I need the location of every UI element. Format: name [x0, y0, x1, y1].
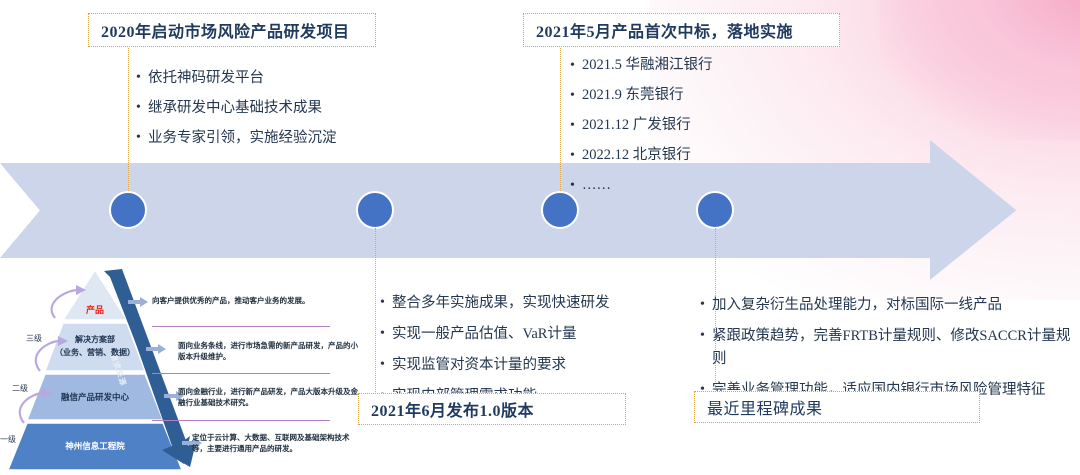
connector-line-node1 [128, 40, 129, 191]
bullet-text: 紧跟政策趋势，完善FRTB计量规则、修改SACCR计量规则 [712, 325, 1072, 371]
pyramid-desc-4: 定位于云计算、大数据、互联网及基础架构技术等，主要进行通用产品的研发。 [192, 432, 362, 454]
bullet-text: 实现一般产品估值、VaR计量 [392, 323, 670, 346]
bullet-text: 依托神码研发平台 [148, 67, 386, 89]
milestone-title-2021-05-text: 2021年5月产品首次中标，落地实施 [536, 18, 793, 42]
milestone-bullets-2020: • 依托神码研发平台 • 继承研发中心基础技术成果 • 业务专家引领，实施经验沉… [136, 67, 386, 157]
bullet-dot: • [380, 354, 392, 376]
connector-line-node3-top [560, 40, 561, 191]
bullet-text: 2021.5 华融湘江银行 [582, 55, 870, 76]
list-item: • 2022.12 北京银行 [570, 145, 870, 167]
bullet-text: 继承研发中心基础技术成果 [148, 97, 386, 119]
pyramid-tier-solution-line2: （业务、营销、数据） [40, 347, 150, 359]
bullet-dot: • [570, 145, 582, 167]
milestone-title-2021-06[interactable]: 2021年6月发布1.0版本 [358, 393, 626, 425]
list-item: • 继承研发中心基础技术成果 [136, 97, 386, 119]
pyramid-desc-1: 向客户提供优秀的产品，推动客户业务的发展。 [152, 295, 337, 306]
bullet-dot: • [380, 323, 392, 345]
pyramid-level-tag-2: 二级 [12, 383, 28, 394]
pyramid-divider-3 [152, 420, 330, 421]
timeline-node-2[interactable] [356, 191, 394, 229]
pyramid-tier-rd-center: 融信产品研发中心 [35, 391, 155, 403]
list-item: • 实现一般产品估值、VaR计量 [380, 323, 670, 346]
bullet-text: 业务专家引领，实施经验沉淀 [148, 127, 386, 149]
bullet-text: 2022.12 北京银行 [582, 145, 870, 166]
milestone-title-2021-06-text: 2021年6月发布1.0版本 [371, 397, 534, 421]
bullet-text: 2021.9 东莞银行 [582, 85, 870, 106]
list-item: • 紧跟政策趋势，完善FRTB计量规则、修改SACCR计量规则 [700, 325, 1072, 371]
list-item: • 业务专家引领，实施经验沉淀 [136, 127, 386, 149]
list-item: • 2021.9 东莞银行 [570, 85, 870, 107]
list-item: • …… [570, 175, 870, 197]
list-item: • 2021.5 华融湘江银行 [570, 55, 870, 77]
bullet-text: 加入复杂衍生品处理能力，对标国际一线产品 [712, 294, 1072, 317]
pyramid-desc-3: 面向金融行业，进行新产品研发，产品大版本升级及金融行业基础技术研究。 [178, 386, 363, 408]
bullet-text: 2021.12 广发银行 [582, 115, 870, 136]
bullet-text: 整合多年实施成果，实现快速研发 [392, 292, 670, 315]
milestone-title-recent[interactable]: 最近里程碑成果 [694, 391, 980, 423]
pyramid-tier-solution-line1: 解决方案部 [45, 334, 145, 346]
bullet-dot: • [700, 325, 712, 347]
list-item: • 整合多年实施成果，实现快速研发 [380, 292, 670, 315]
milestone-title-2021-05[interactable]: 2021年5月产品首次中标，落地实施 [523, 13, 840, 47]
pyramid-level-tag-3: 三级 [26, 333, 42, 344]
list-item: • 依托神码研发平台 [136, 67, 386, 89]
background-gradient-pink-accent [880, 0, 1080, 140]
bullet-dot: • [136, 97, 148, 119]
milestone-title-2020[interactable]: 2020年启动市场风险产品研发项目 [88, 13, 376, 47]
pyramid-diagram: 需求来源 三级 二级 一级 产品 解决方案部 （业务、营销、数据） 融信产品研发… [0, 268, 350, 475]
pyramid-divider-1 [152, 326, 330, 327]
milestone-title-2020-text: 2020年启动市场风险产品研发项目 [101, 18, 350, 42]
pyramid-divider-2 [152, 373, 330, 374]
bullet-dot: • [700, 294, 712, 316]
bullet-text: …… [582, 175, 870, 196]
list-item: • 实现监管对资本计量的要求 [380, 354, 670, 377]
milestone-bullets-2021-05: • 2021.5 华融湘江银行 • 2021.9 东莞银行 • 2021.12 … [570, 55, 870, 205]
bullet-dot: • [570, 115, 582, 137]
bullet-dot: • [136, 67, 148, 89]
milestone-title-recent-text: 最近里程碑成果 [707, 395, 823, 419]
bullet-dot: • [570, 175, 582, 197]
bullet-text: 实现监管对资本计量的要求 [392, 354, 670, 377]
bullet-dot: • [380, 292, 392, 314]
pyramid-tier-engineering-institute: 神州信息工程院 [25, 440, 165, 452]
timeline-node-1[interactable] [109, 191, 147, 229]
bullet-dot: • [570, 55, 582, 77]
connector-line-node2-bottom [375, 228, 376, 398]
pyramid-level-tag-1: 一级 [0, 434, 16, 445]
bullet-dot: • [136, 127, 148, 149]
list-item: • 2021.12 广发银行 [570, 115, 870, 137]
bullet-dot: • [570, 85, 582, 107]
slide-canvas: 2020年启动市场风险产品研发项目 • 依托神码研发平台 • 继承研发中心基础技… [0, 0, 1080, 475]
list-item: • 加入复杂衍生品处理能力，对标国际一线产品 [700, 294, 1072, 317]
pyramid-tier-product: 产品 [65, 303, 125, 316]
pyramid-desc-2: 面向业务条线，进行市场急需的新产品研发，产品的小版本升级维护。 [178, 340, 363, 362]
